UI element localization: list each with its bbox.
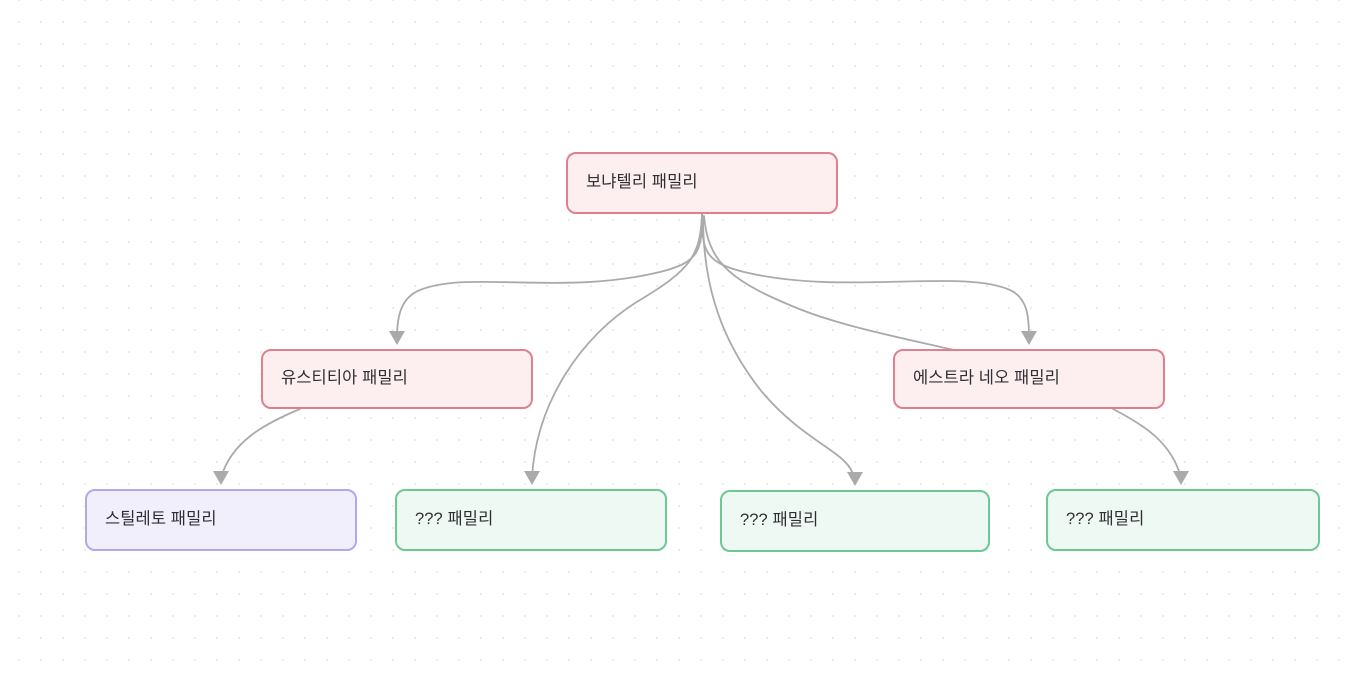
edge-justitia-to-stiletto: [221, 409, 300, 478]
node-label-justitia: 유스티티아 패밀리: [281, 369, 408, 389]
arrowhead-stiletto: [213, 471, 229, 485]
arrowhead-unknown-2: [847, 472, 863, 486]
edge-bonatelli-to-unknown-1: [532, 216, 702, 478]
arrowhead-justitia: [389, 331, 405, 345]
node-label-stiletto: 스틸레토 패밀리: [105, 510, 217, 530]
node-bonatelli[interactable]: 보냐텔리 패밀리: [566, 152, 838, 214]
diagram-canvas[interactable]: 보냐텔리 패밀리 유스티티아 패밀리 에스트라 네오 패밀리 스틸레토 패밀리 …: [0, 0, 1345, 679]
node-label-unknown-1: ??? 패밀리: [415, 510, 493, 530]
node-label-bonatelli: 보냐텔리 패밀리: [586, 173, 698, 193]
edge-bonatelli-to-unknown-2: [703, 216, 854, 479]
node-unknown-2[interactable]: ??? 패밀리: [720, 490, 990, 552]
edge-estra-neo-to-unknown-3: [1113, 409, 1181, 478]
node-label-unknown-3: ??? 패밀리: [1066, 510, 1144, 530]
node-label-unknown-2: ??? 패밀리: [740, 511, 818, 531]
node-justitia[interactable]: 유스티티아 패밀리: [261, 349, 533, 409]
edge-bonatelli-to-justitia: [397, 214, 702, 338]
edges-group: [221, 214, 1181, 479]
arrowhead-unknown-3: [1173, 471, 1189, 485]
node-estra-neo[interactable]: 에스트라 네오 패밀리: [893, 349, 1165, 409]
node-unknown-1[interactable]: ??? 패밀리: [395, 489, 667, 551]
arrowhead-unknown-1: [524, 471, 540, 485]
node-stiletto[interactable]: 스틸레토 패밀리: [85, 489, 357, 551]
edge-bonatelli-to-estra-neo: [702, 214, 1029, 338]
arrowhead-estra-neo: [1021, 331, 1037, 345]
node-label-estra-neo: 에스트라 네오 패밀리: [913, 369, 1060, 389]
edge-layer: [0, 0, 1345, 679]
node-unknown-3[interactable]: ??? 패밀리: [1046, 489, 1320, 551]
